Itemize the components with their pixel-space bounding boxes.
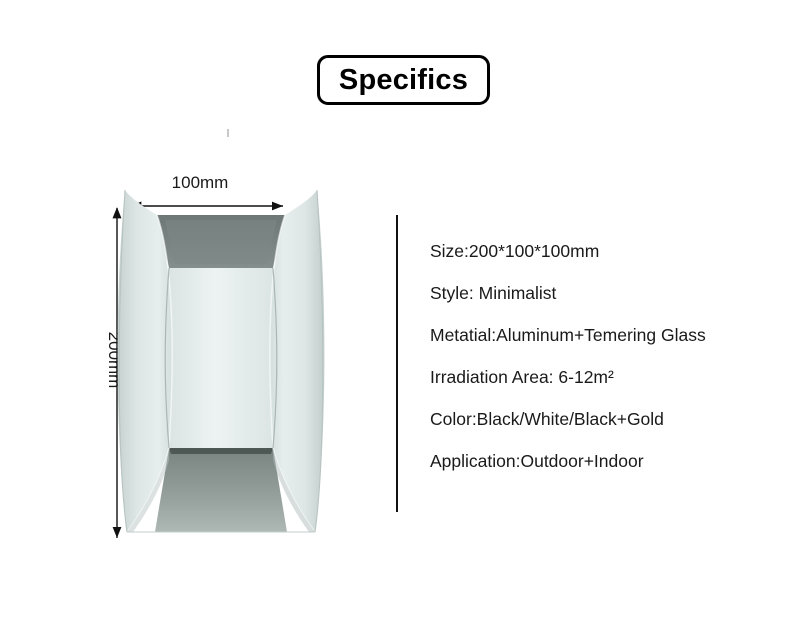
page-title-box: Specifics (317, 55, 490, 105)
spec-item-size: Size:200*100*100mm (430, 243, 770, 285)
wall-lamp-graphic (118, 190, 325, 532)
lamp-bottom-cavity (155, 448, 287, 532)
spec-item-irradiation: Irradiation Area: 6-12m² (430, 369, 770, 411)
width-dimension-label: 100mm (172, 173, 229, 192)
lamp-center-panel (165, 268, 277, 448)
spec-item-application: Application:Outdoor+Indoor (430, 453, 770, 495)
product-illustration: 100mm 200mm (95, 160, 325, 560)
scan-artifact-mark (227, 129, 229, 137)
page-title: Specifics (339, 66, 468, 95)
specs-list: Size:200*100*100mm Style: Minimalist Met… (430, 243, 770, 495)
spec-item-style: Style: Minimalist (430, 285, 770, 327)
spec-item-color: Color:Black/White/Black+Gold (430, 411, 770, 453)
spec-item-material: Metatial:Aluminum+Temering Glass (430, 327, 770, 369)
vertical-divider (396, 215, 398, 512)
